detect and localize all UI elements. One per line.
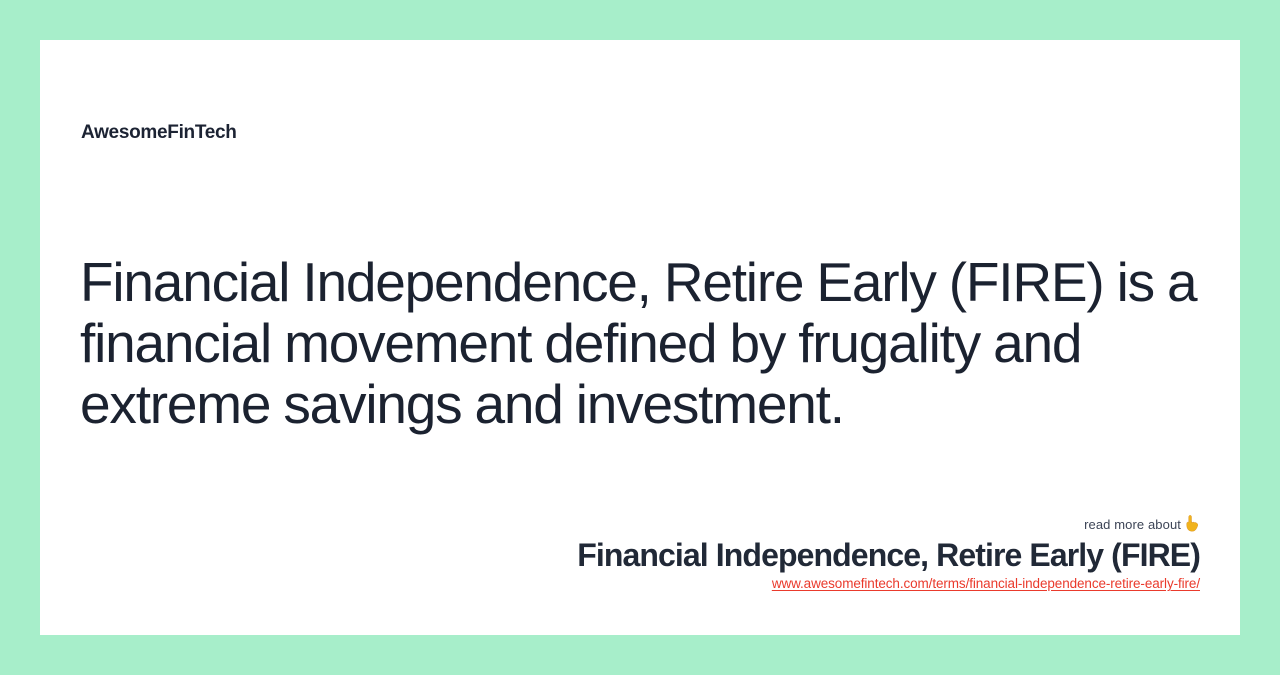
point-down-icon <box>1185 515 1200 532</box>
page-canvas: AwesomeFinTech Financial Independence, R… <box>0 0 1280 675</box>
footer-source-link[interactable]: www.awesomefintech.com/terms/financial-i… <box>772 576 1200 591</box>
footer-block: read more about Financial Independence, … <box>400 515 1200 593</box>
read-more-label: read more about <box>1084 517 1181 532</box>
page-title: Financial Independence, Retire Early (FI… <box>80 252 1200 435</box>
content-card: AwesomeFinTech Financial Independence, R… <box>40 40 1240 635</box>
footer-term-title: Financial Independence, Retire Early (FI… <box>400 536 1200 574</box>
brand-logo-text: AwesomeFinTech <box>81 122 237 144</box>
read-more-row: read more about <box>400 515 1200 533</box>
